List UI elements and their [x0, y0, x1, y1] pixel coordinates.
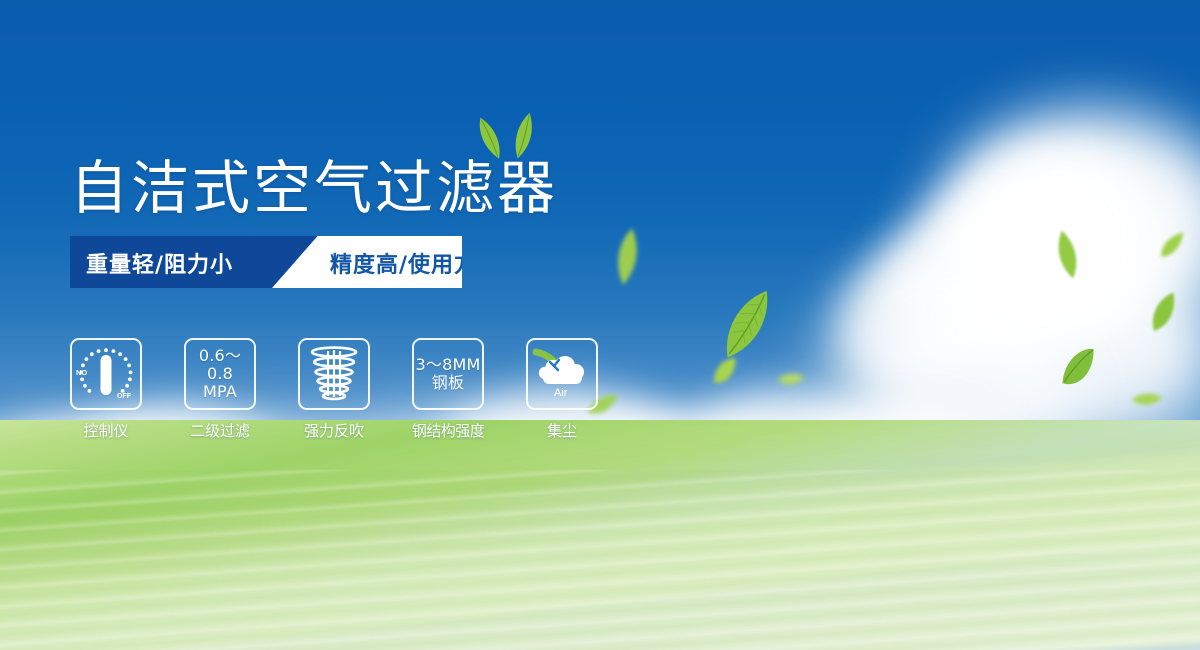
- tagline-bar: 重量轻/阻力小 精度高/使用方便: [70, 236, 462, 288]
- product-banner: 自洁式空气过滤器 重量轻/阻力小 精度高/使用方便: [0, 0, 1200, 650]
- cloud-air-icon: Air: [532, 346, 592, 402]
- feature-icon-box: 3～8MM 钢板: [412, 338, 484, 410]
- pressure-value: 0.6～0.8: [199, 346, 241, 383]
- feature-item-backflush[interactable]: 强力反吹: [298, 338, 370, 441]
- svg-text:NO: NO: [76, 368, 87, 377]
- feature-label: 控制仪: [83, 420, 128, 441]
- feature-label: 钢结构强度: [412, 420, 485, 441]
- grass-texture: [0, 470, 1200, 650]
- tagline-primary-text: 重量轻/阻力小: [86, 247, 233, 279]
- feature-icon-box: 0.6～0.8 MPA: [184, 338, 256, 410]
- feature-item-steel-strength[interactable]: 3～8MM 钢板 钢结构强度: [412, 338, 484, 441]
- feature-label: 集尘: [547, 420, 577, 441]
- feature-list: NO OFF 控制仪 0.6～0.8 MPA 二级过滤: [70, 338, 598, 441]
- page-title: 自洁式空气过滤器: [70, 141, 558, 225]
- filter-coil-icon: [309, 346, 359, 402]
- feature-item-dust-collection[interactable]: Air 集尘: [526, 338, 598, 441]
- leaf-icon-9: [1131, 390, 1163, 409]
- feature-item-controller[interactable]: NO OFF 控制仪: [70, 338, 142, 441]
- steel-thickness: 3～8MM: [416, 355, 481, 374]
- leaf-icon-4: [777, 370, 805, 389]
- cloud-right-7: [820, 300, 950, 410]
- grass-field: [0, 420, 1200, 650]
- steel-material: 钢板: [416, 374, 481, 392]
- pressure-unit: MPA: [186, 383, 254, 401]
- gauge-icon: NO OFF: [75, 345, 137, 403]
- pressure-text-icon: 0.6～0.8 MPA: [186, 347, 254, 401]
- feature-icon-box: Air: [526, 338, 598, 410]
- air-text: Air: [554, 387, 568, 399]
- feature-icon-box: NO OFF: [70, 338, 142, 410]
- feature-label: 二级过滤: [190, 420, 250, 441]
- feature-item-two-stage-filter[interactable]: 0.6～0.8 MPA 二级过滤: [184, 338, 256, 441]
- feature-icon-box: [298, 338, 370, 410]
- feature-label: 强力反吹: [304, 420, 364, 441]
- svg-text:OFF: OFF: [117, 393, 132, 400]
- steel-text-icon: 3～8MM 钢板: [416, 356, 481, 392]
